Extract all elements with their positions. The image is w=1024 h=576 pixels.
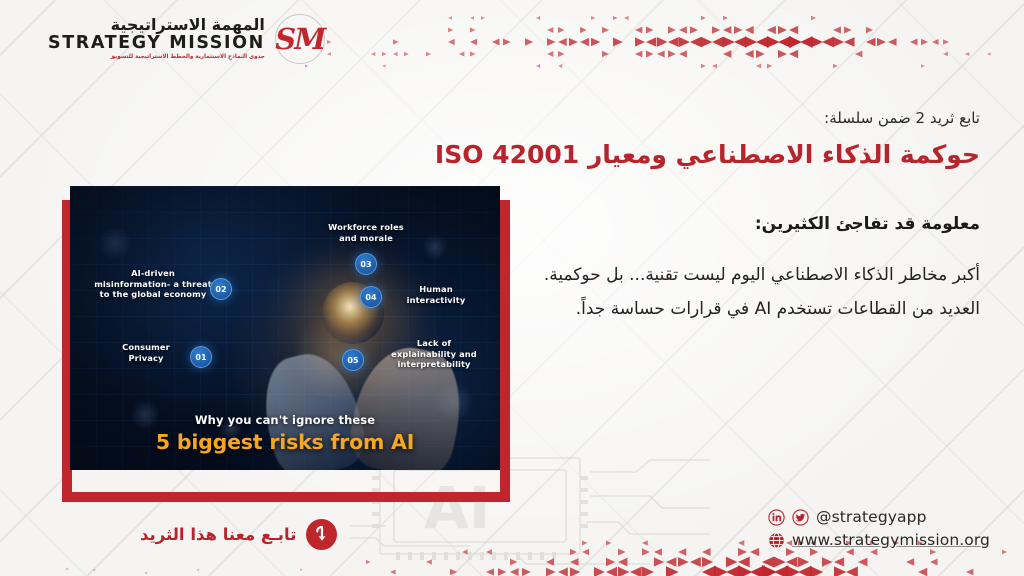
risk-number-02: 02 — [210, 278, 232, 300]
social-handle-text[interactable]: @strategyapp — [816, 508, 927, 526]
caption-headline: 5 biggest risks from AI — [70, 430, 500, 454]
follow-thread-label: تابـع معنا هذا الثريد — [140, 525, 296, 544]
logo-monogram-text: SM — [275, 22, 324, 56]
infographic-card[interactable]: AI-drivenmisinformation- a threatto the … — [56, 186, 518, 502]
logo-text-block: المهمة الاستراتيجية STRATEGY MISSION جدو… — [48, 17, 265, 61]
slide-canvas: المهمة الاستراتيجية STRATEGY MISSION جدو… — [0, 0, 1024, 576]
logo-name-arabic: المهمة الاستراتيجية — [48, 17, 265, 33]
risk-number-04: 04 — [360, 286, 382, 308]
social-links: @strategyapp www.strategymission.org — [768, 508, 990, 554]
down-arrow-icon — [306, 519, 337, 550]
linkedin-icon — [768, 509, 785, 526]
globe-icon — [768, 532, 785, 549]
twitter-icon — [792, 509, 809, 526]
page-title: حوكمة الذكاء الاصطناعي ومعيار ISO 42001 — [510, 138, 980, 172]
risk-number-03: 03 — [355, 253, 377, 275]
social-handle-row[interactable]: @strategyapp — [768, 508, 990, 526]
image-caption-block: Why you can't ignore these 5 biggest ris… — [70, 413, 500, 454]
website-row[interactable]: www.strategymission.org — [768, 531, 990, 549]
section-subheading: معلومة قد تفاجئ الكثيرين: — [510, 213, 980, 237]
thread-kicker: تابع ثريد 2 ضمن سلسلة: — [510, 108, 980, 129]
body-copy: أكبر مخاطر الذكاء الاصطناعي اليوم ليست ت… — [510, 258, 980, 328]
brand-logo[interactable]: المهمة الاستراتيجية STRATEGY MISSION جدو… — [48, 14, 325, 64]
risk-label-03: Workforce rolesand morale — [310, 222, 422, 243]
risk-label-05: Lack ofexplainability andinterpretabilit… — [376, 338, 492, 370]
text-column: تابع ثريد 2 ضمن سلسلة: حوكمة الذكاء الاص… — [510, 108, 980, 327]
risk-number-01: 01 — [190, 346, 212, 368]
body-paragraph-2: العديد من القطاعات تستخدم AI في قرارات ح… — [510, 292, 980, 327]
website-url-text[interactable]: www.strategymission.org — [792, 531, 990, 549]
logo-name-english: STRATEGY MISSION — [48, 35, 265, 53]
logo-tagline: جدوى النماذج الاستثمارية والخطط الاسترات… — [48, 55, 265, 61]
logo-monogram-mark: SM — [275, 14, 325, 64]
risk-label-02: AI-drivenmisinformation- a threatto the … — [78, 268, 228, 300]
risk-label-04: Humaninteractivity — [388, 284, 484, 305]
follow-thread-cta[interactable]: تابـع معنا هذا الثريد — [140, 519, 337, 550]
body-paragraph-1: أكبر مخاطر الذكاء الاصطناعي اليوم ليست ت… — [510, 258, 980, 293]
infographic-image: AI-drivenmisinformation- a threatto the … — [70, 186, 500, 470]
caption-small: Why you can't ignore these — [70, 413, 500, 427]
risk-number-05: 05 — [342, 349, 364, 371]
